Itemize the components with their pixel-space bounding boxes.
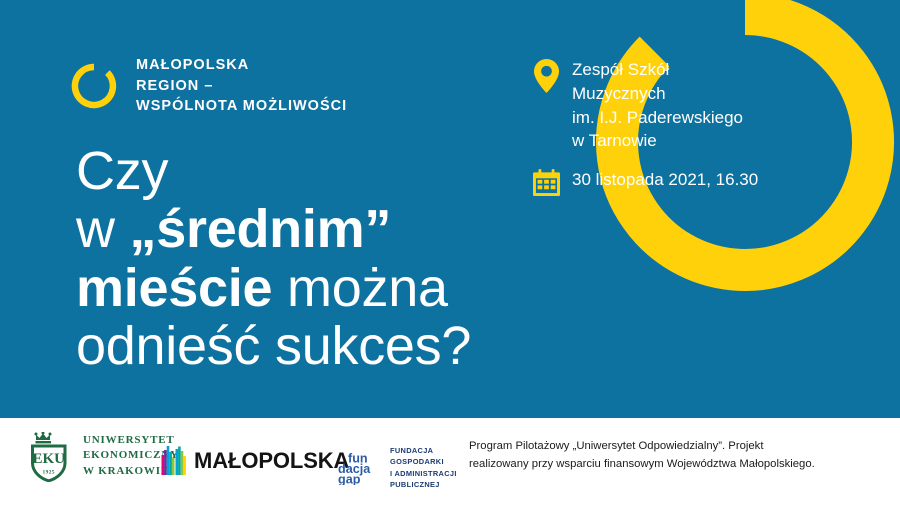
fundacja-gap-icon: fun dacja gap [334, 451, 382, 485]
calendar-icon [528, 168, 564, 196]
footer-bar: EKU 1925 UNIWERSYTET EKONOMICZNY W KRAKO… [0, 418, 900, 506]
map-pin-icon [528, 58, 564, 93]
malopolska-m-icon [161, 446, 188, 475]
gap-wordmark: FUNDACJA GOSPODARKI I ADMINISTRACJI PUBL… [390, 445, 457, 490]
malopolska-ring-mark-icon [68, 60, 120, 112]
poster-canvas: MAŁOPOLSKA REGION – WSPÓLNOTA MOŻLIWOŚCI… [0, 0, 900, 506]
malopolska-wordmark: MAŁOPOLSKA [194, 448, 349, 474]
brand-logo-text: MAŁOPOLSKA REGION – WSPÓLNOTA MOŻLIWOŚCI [136, 55, 347, 117]
headline-line-3: mieście można [76, 259, 471, 317]
logo-fundacja-gap: fun dacja gap FUNDACJA GOSPODARKI I ADMI… [334, 445, 457, 490]
svg-text:EKU: EKU [32, 451, 65, 467]
headline-line-2-bold: „średnim” [129, 199, 391, 259]
uek-crown-shield-icon: EKU 1925 [28, 432, 72, 480]
logo-malopolska: MAŁOPOLSKA [161, 446, 349, 475]
headline-line-2-plain: w [76, 199, 129, 259]
event-details: Zespół Szkół Muzycznych im. I.J. Paderew… [528, 58, 858, 196]
headline-line-1: Czy [76, 142, 471, 200]
venue-text: Zespół Szkół Muzycznych im. I.J. Paderew… [572, 58, 743, 153]
event-venue-row: Zespół Szkół Muzycznych im. I.J. Paderew… [528, 58, 858, 153]
program-note: Program Pilotażowy „Uniwersytet Odpowied… [469, 438, 884, 474]
svg-text:gap: gap [338, 472, 361, 485]
date-text: 30 listopada 2021, 16.30 [572, 168, 758, 192]
headline-line-2: w „średnim” [76, 200, 471, 258]
logo-uniwersytet-ekonomiczny: EKU 1925 UNIWERSYTET EKONOMICZNY W KRAKO… [28, 432, 179, 480]
headline-line-3-plain: można [272, 258, 447, 318]
event-date-row: 30 listopada 2021, 16.30 [528, 168, 858, 196]
page-title: Czy w „średnim” mieście można odnieść su… [76, 142, 471, 375]
headline-line-3-bold: mieście [76, 258, 272, 318]
headline-line-4: odnieść sukces? [76, 317, 471, 375]
brand-logo: MAŁOPOLSKA REGION – WSPÓLNOTA MOŻLIWOŚCI [68, 55, 347, 117]
svg-text:1925: 1925 [43, 470, 55, 476]
